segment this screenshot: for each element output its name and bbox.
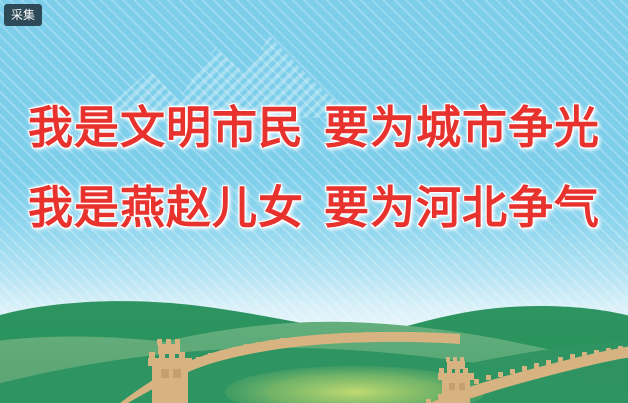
caption-line-2-left: 我是燕赵儿女 xyxy=(28,185,304,230)
caption-line-1-left: 我是文明市民 xyxy=(28,105,304,150)
caption-line-2: 我是燕赵儿女要为河北争气 xyxy=(0,185,628,230)
caption-line-1: 我是文明市民要为城市争光 xyxy=(0,105,628,150)
collect-button[interactable]: 采集 xyxy=(4,4,42,26)
caption-line-2-right: 要为河北争气 xyxy=(324,185,600,230)
propaganda-banner: 我是文明市民要为城市争光 我是燕赵儿女要为河北争气 采集 xyxy=(0,0,628,403)
caption-line-1-right: 要为城市争光 xyxy=(324,105,600,150)
